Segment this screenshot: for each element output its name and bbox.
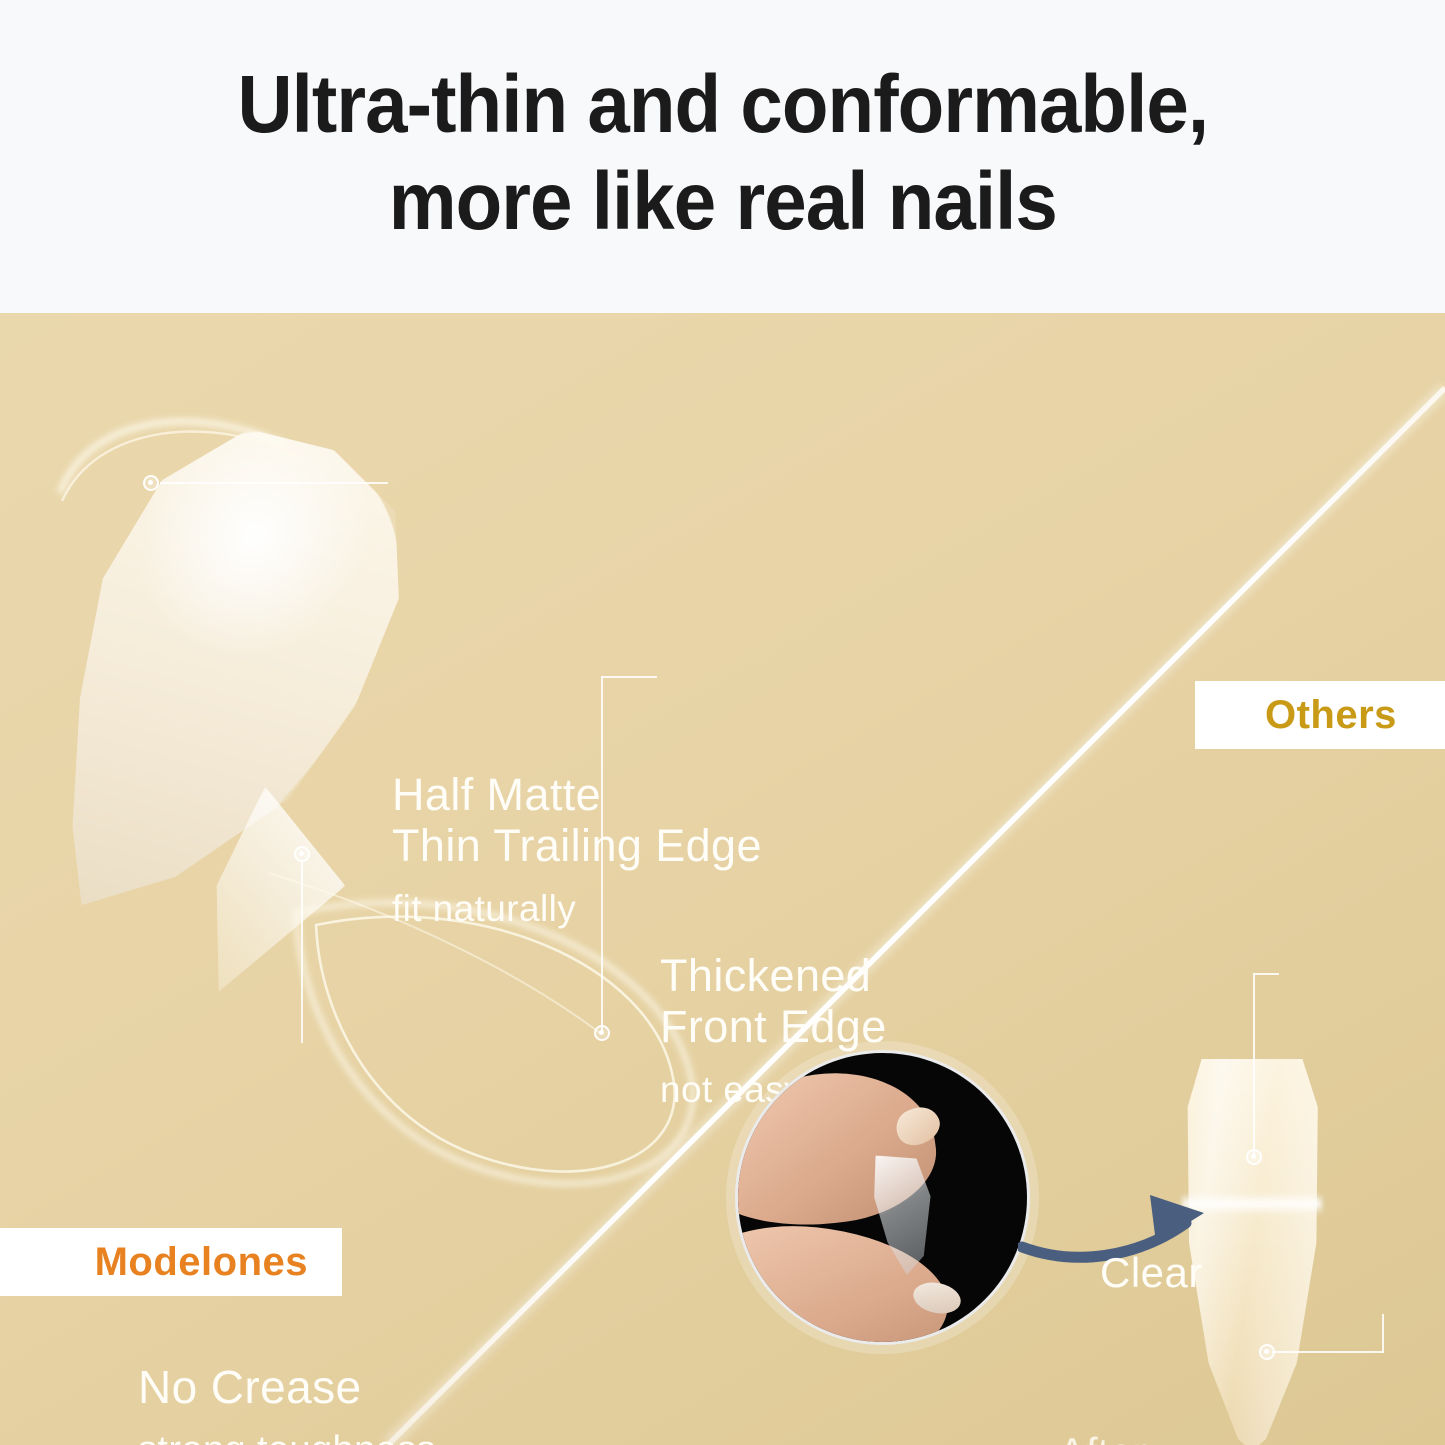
annotation-half-matte-subtitle: fit naturally bbox=[392, 888, 762, 930]
bend-crease-band bbox=[1182, 1193, 1322, 1215]
annotation-half-matte-line-2: Thin Trailing Edge bbox=[392, 820, 762, 871]
leader-line-half-matte bbox=[160, 482, 388, 484]
annotation-thickened-line-2: Front Edge bbox=[660, 1001, 951, 1052]
callout-dot-icon bbox=[1246, 1149, 1262, 1165]
brand-badge-others: Others bbox=[1195, 681, 1445, 749]
label-after-bend: After Bend bbox=[1058, 1429, 1156, 1445]
label-after-bend-line-1: After bbox=[1058, 1429, 1156, 1445]
modelones-nail-illustration bbox=[10, 373, 690, 1073]
leader-line-clear-horizontal bbox=[1253, 973, 1279, 975]
brand-badge-label: Modelones bbox=[95, 1240, 308, 1285]
annotation-half-matte-line-1: Half Matte bbox=[392, 769, 762, 820]
leader-line-abs-vertical bbox=[1382, 1314, 1384, 1353]
leader-line-no-crease bbox=[301, 861, 303, 1043]
leader-line-abs-horizontal bbox=[1272, 1351, 1384, 1353]
annotation-half-matte: Half Matte Thin Trailing Edge fit natura… bbox=[392, 769, 762, 930]
leader-line-thickened-horizontal bbox=[601, 676, 657, 678]
callout-dot-icon bbox=[294, 846, 310, 862]
annotation-thickened-line-1: Thickened bbox=[660, 950, 951, 1001]
callout-dot-icon bbox=[1259, 1344, 1275, 1360]
brand-badge-modelones: Modelones bbox=[0, 1228, 342, 1296]
abs-nail-illustration bbox=[1182, 1051, 1322, 1445]
annotation-no-crease-line-1: No Crease bbox=[138, 1361, 436, 1413]
annotation-no-crease-subtitle: strong toughness bbox=[138, 1429, 436, 1445]
leader-line-clear-vertical bbox=[1253, 973, 1255, 1156]
header-banner: Ultra-thin and conformable, more like re… bbox=[0, 0, 1445, 313]
page-title: Ultra-thin and conformable, more like re… bbox=[237, 57, 1208, 257]
callout-dot-icon bbox=[143, 475, 159, 491]
callout-dot-icon bbox=[594, 1025, 610, 1041]
label-clear: Clear bbox=[1100, 1249, 1203, 1297]
bend-demo-photo bbox=[735, 1050, 1030, 1345]
headline-line-2: more like real nails bbox=[237, 154, 1208, 251]
others-badge-label: Others bbox=[1265, 693, 1397, 738]
headline-line-1: Ultra-thin and conformable, bbox=[237, 57, 1208, 154]
annotation-no-crease: No Crease strong toughness bbox=[138, 1361, 436, 1445]
